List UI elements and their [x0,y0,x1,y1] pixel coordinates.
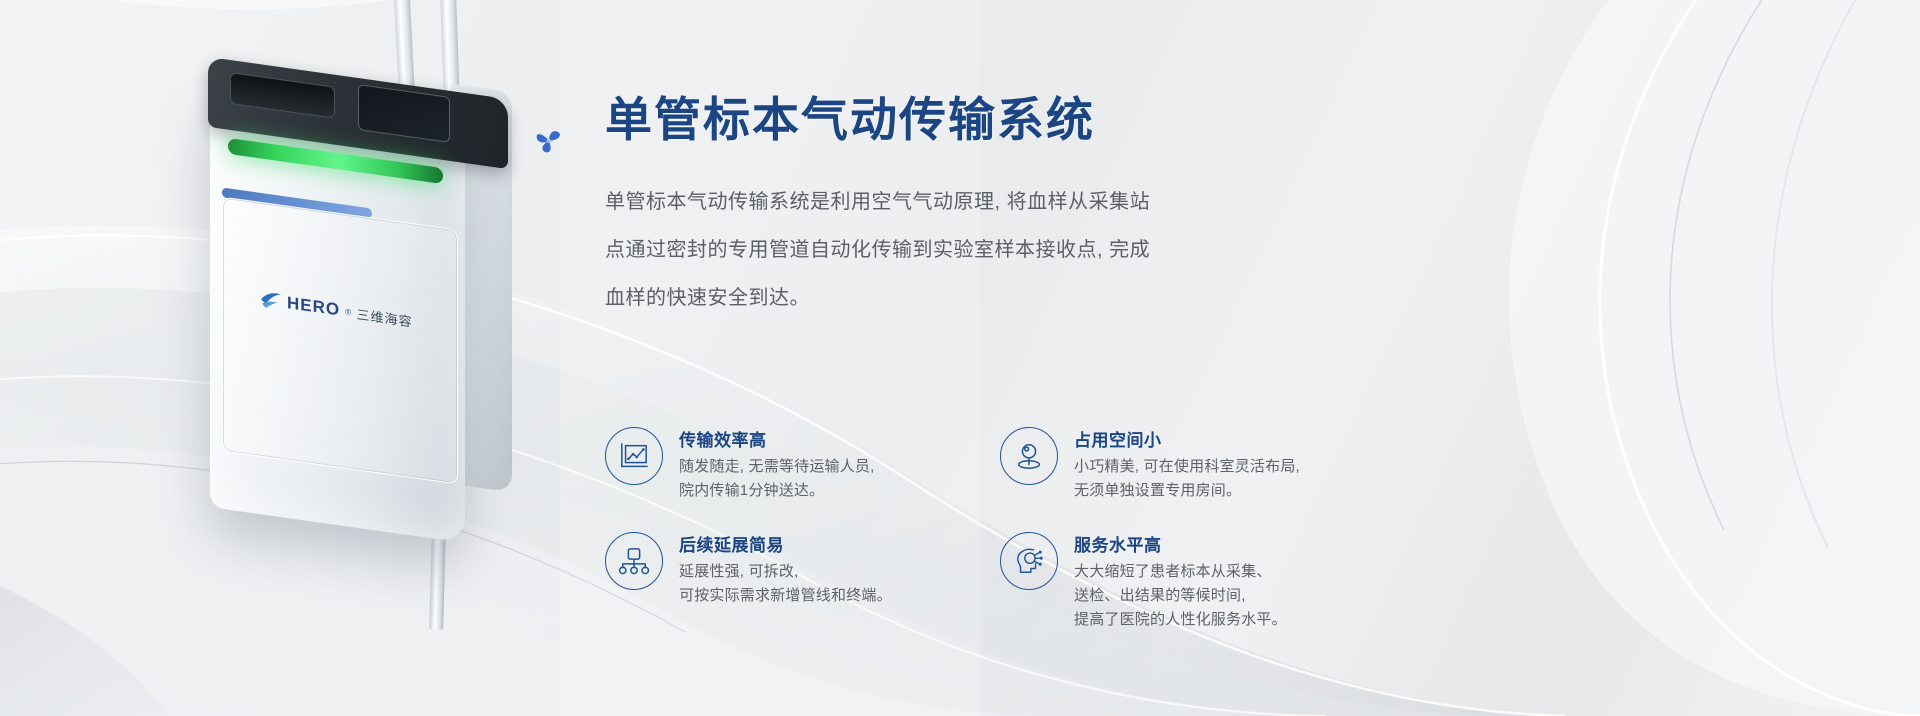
network-tree-icon [605,532,663,590]
location-pin-icon [1000,427,1058,485]
feature-title: 后续延展简易 [679,531,892,556]
device-inlet-slot [230,72,335,119]
feature-description: 大大缩短了患者标本从采集、 送检、出结果的等候时间, 提高了医院的人性化服务水平… [1074,560,1287,632]
intro-line: 血样的快速安全到达。 [605,274,1285,322]
intro-line: 单管标本气动传输系统是利用空气气动原理, 将血样从采集站 [605,178,1285,226]
feature-description: 延展性强, 可拆改, 可按实际需求新增管线和终端。 [679,560,892,608]
feature-desc-line: 延展性强, 可拆改, [679,560,892,584]
feature-desc-line: 大大缩短了患者标本从采集、 [1074,560,1287,584]
feature-title: 占用空间小 [1074,426,1300,451]
feature-item-small-footprint: 占用空间小 小巧精美, 可在使用科室灵活布局, 无须单独设置专用房间。 [1000,425,1305,530]
feature-description: 小巧精美, 可在使用科室灵活布局, 无须单独设置专用房间。 [1074,455,1300,503]
intro-line: 点通过密封的专用管道自动化传输到实验室样本接收点, 完成 [605,226,1285,274]
feature-desc-line: 院内传输1分钟送达。 [679,479,875,503]
chart-trend-icon [605,427,663,485]
feature-title: 服务水平高 [1074,531,1287,556]
fan-icon [531,123,567,158]
feature-desc-line: 送检、出结果的等候时间, [1074,584,1287,608]
feature-desc-line: 提高了医院的人性化服务水平。 [1074,608,1287,632]
hero-logo-icon [260,290,282,311]
feature-item-service-level: 服务水平高 大大缩短了患者标本从采集、 送检、出结果的等候时间, 提高了医院的人… [1000,530,1305,632]
feature-text: 服务水平高 大大缩短了患者标本从采集、 送检、出结果的等候时间, 提高了医院的人… [1074,530,1287,632]
feature-text: 后续延展简易 延展性强, 可拆改, 可按实际需求新增管线和终端。 [679,530,892,608]
feature-text: 占用空间小 小巧精美, 可在使用科室灵活布局, 无须单独设置专用房间。 [1074,425,1300,503]
intro-paragraph: 单管标本气动传输系统是利用空气气动原理, 将血样从采集站 点通过密封的专用管道自… [605,178,1285,322]
feature-desc-line: 随发随走, 无需等待运输人员, [679,455,875,479]
smart-head-icon [1000,532,1058,590]
feature-text: 传输效率高 随发随走, 无需等待运输人员, 院内传输1分钟送达。 [679,425,875,503]
feature-desc-line: 可按实际需求新增管线和终端。 [679,584,892,608]
brand-registered-mark: ® [345,307,351,317]
hero-banner: HERO ® 三维海容 单管标本气动传输系统 单管标本气动传输系统是利用空气气动… [0,0,1920,716]
feature-item-easy-extension: 后续延展简易 延展性强, 可拆改, 可按实际需求新增管线和终端。 [605,530,1000,632]
device-panel-seam [222,196,458,484]
page-title: 单管标本气动传输系统 [605,94,1095,146]
feature-title: 传输效率高 [679,426,875,451]
feature-description: 随发随走, 无需等待运输人员, 院内传输1分钟送达。 [679,455,875,503]
feature-list: 传输效率高 随发随走, 无需等待运输人员, 院内传输1分钟送达。 [605,425,1305,632]
device-display-window [358,84,450,143]
product-image: HERO ® 三维海容 [150,0,580,620]
feature-desc-line: 无须单独设置专用房间。 [1074,479,1300,503]
feature-item-transmission-efficiency: 传输效率高 随发随走, 无需等待运输人员, 院内传输1分钟送达。 [605,425,1000,530]
feature-desc-line: 小巧精美, 可在使用科室灵活布局, [1074,455,1300,479]
